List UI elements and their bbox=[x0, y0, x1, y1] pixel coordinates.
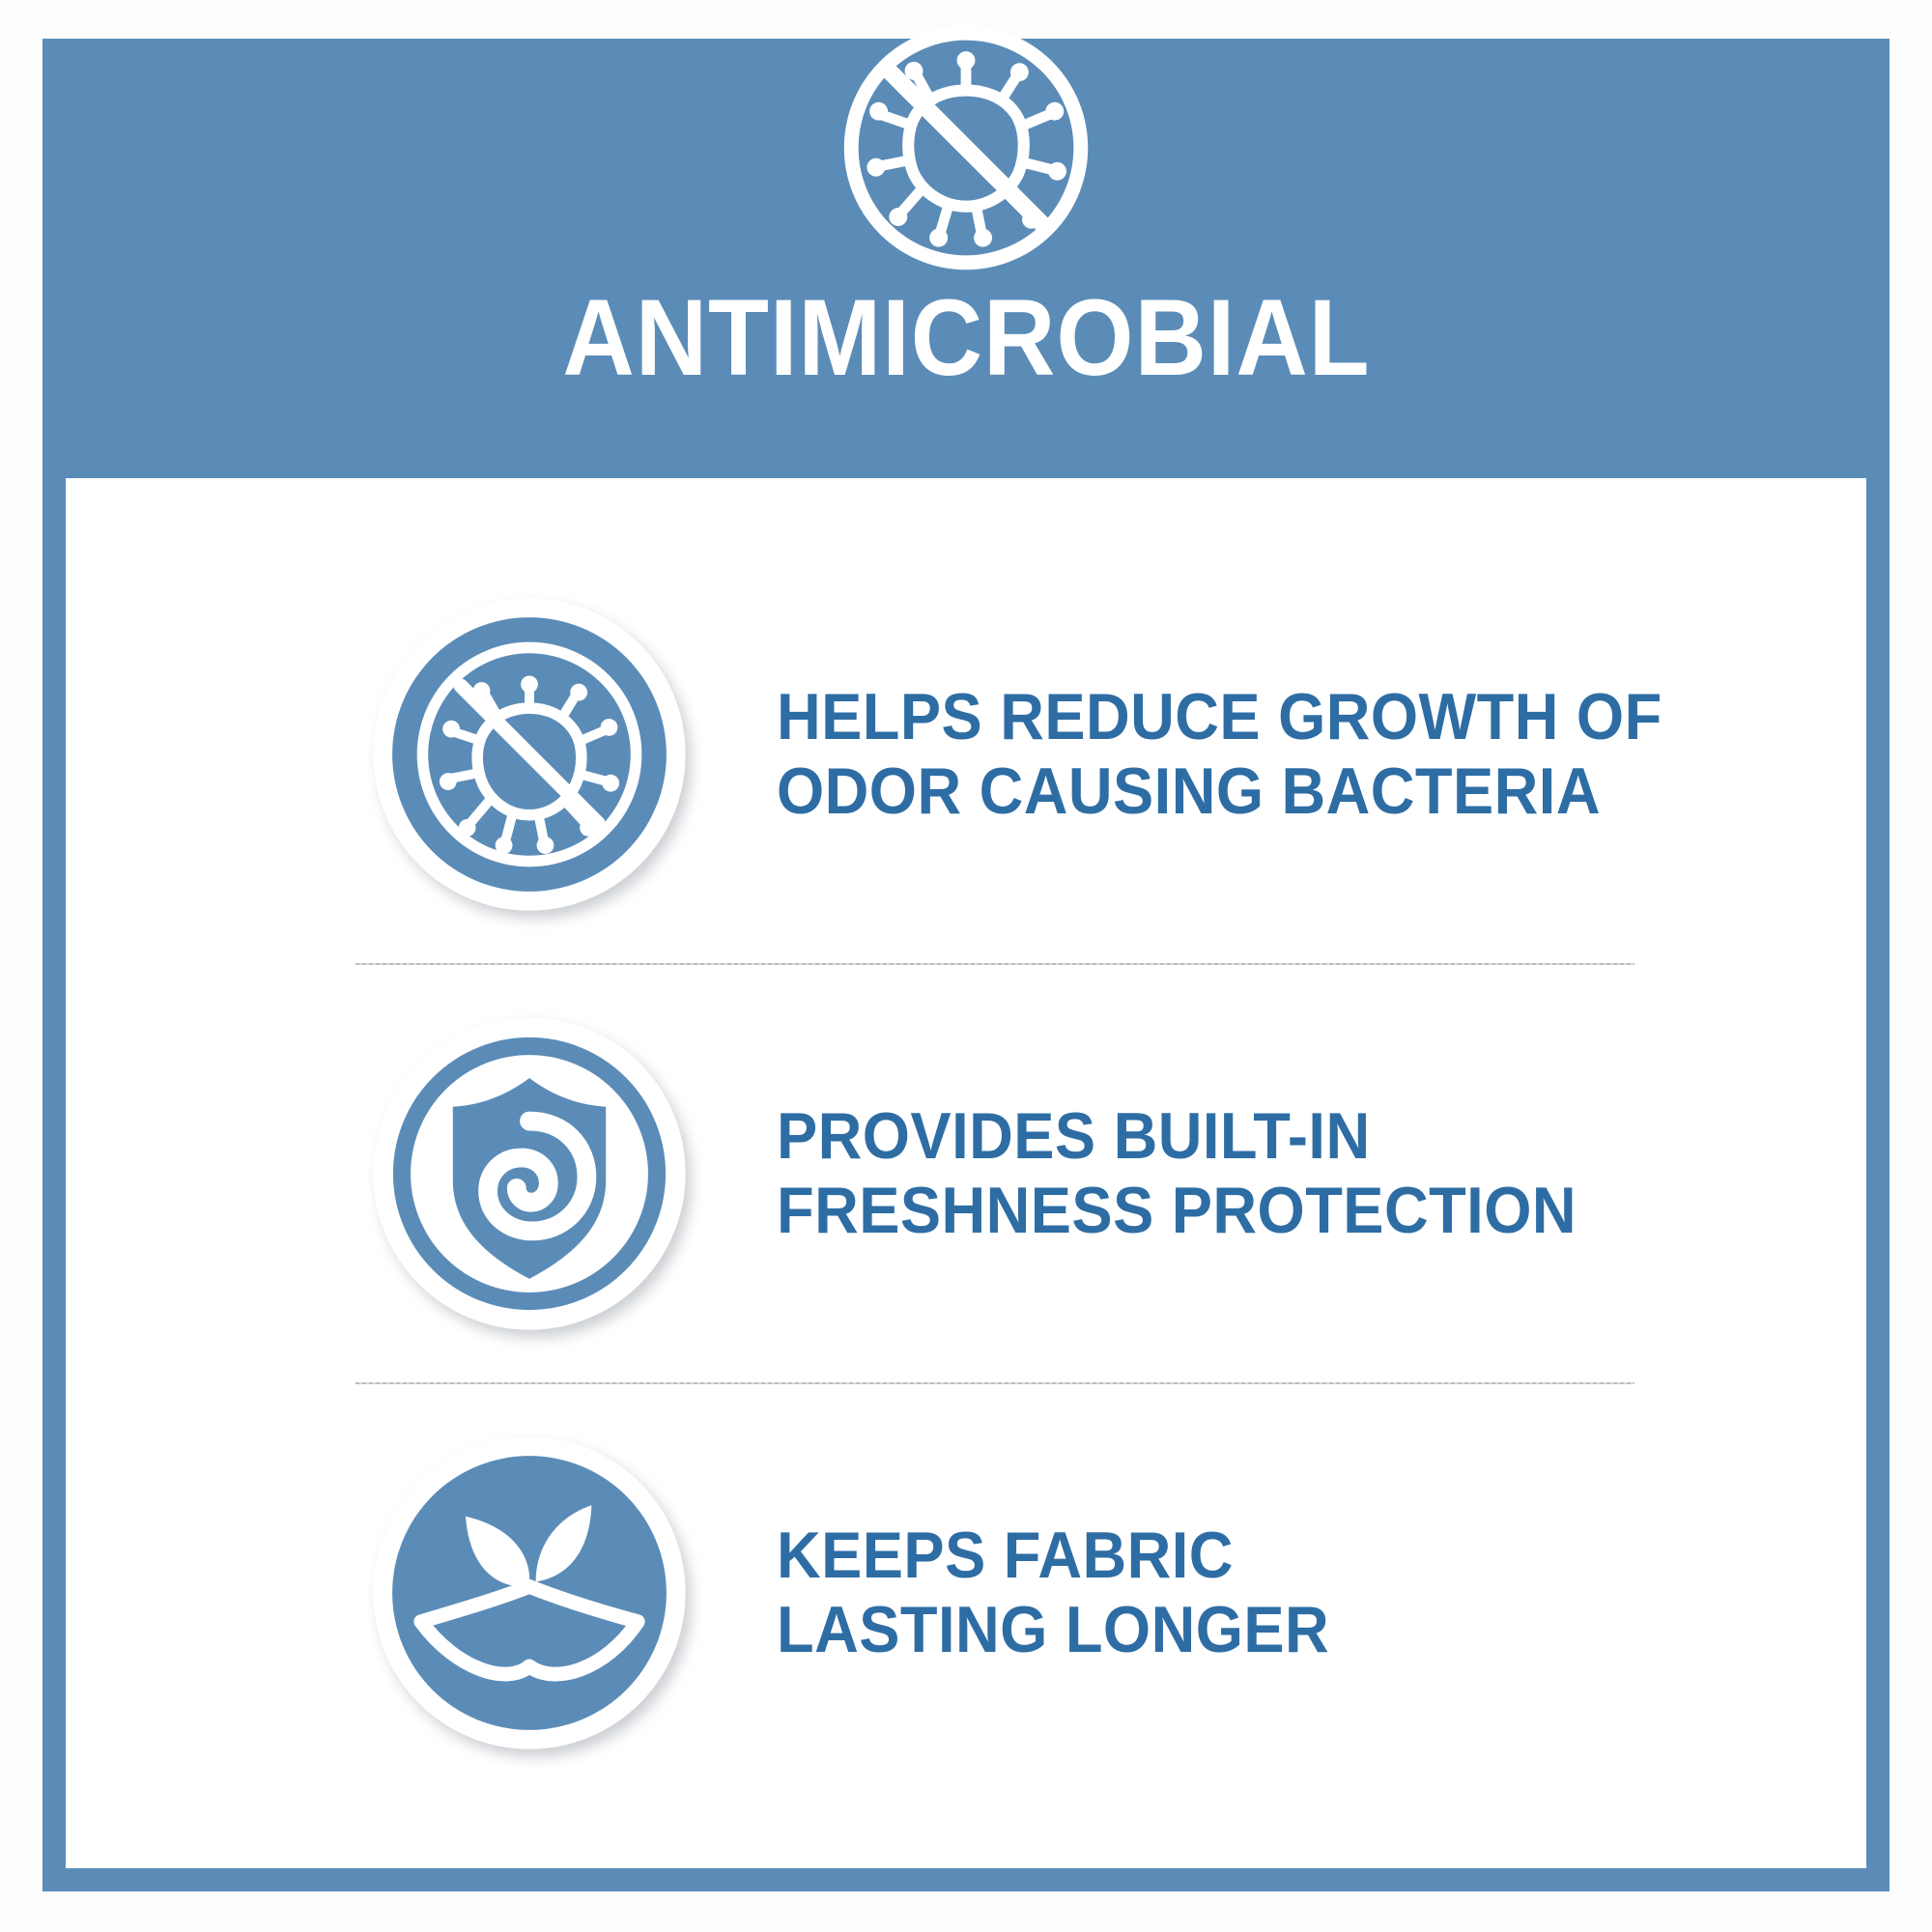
infographic-root: ANTIMICROBIAL bbox=[0, 0, 1932, 1932]
leaf-sprout-icon bbox=[370, 1434, 689, 1752]
feature-icon-wrap-3 bbox=[355, 1419, 703, 1767]
shield-swirl-icon bbox=[370, 1014, 689, 1333]
feature-row-1: HELPS REDUCE GROWTH OF ODOR CAUSING BACT… bbox=[66, 546, 1866, 963]
header-band: ANTIMICROBIAL bbox=[43, 39, 1889, 478]
feature-icon-wrap-1 bbox=[355, 581, 703, 928]
virus-blocked-icon bbox=[836, 17, 1096, 278]
feature-label-2: PROVIDES BUILT-IN FRESHNESS PROTECTION bbox=[777, 1099, 1577, 1246]
feature-row-3: KEEPS FABRIC LASTING LONGER bbox=[66, 1384, 1866, 1802]
feature-row-2: PROVIDES BUILT-IN FRESHNESS PROTECTION bbox=[66, 965, 1866, 1382]
feature-label-1: HELPS REDUCE GROWTH OF ODOR CAUSING BACT… bbox=[777, 680, 1662, 827]
feature-icon-wrap-2 bbox=[355, 1000, 703, 1348]
feature-label-3: KEEPS FABRIC LASTING LONGER bbox=[777, 1519, 1329, 1665]
virus-blocked-icon bbox=[370, 595, 689, 914]
feature-rows: HELPS REDUCE GROWTH OF ODOR CAUSING BACT… bbox=[66, 546, 1866, 1802]
page-title: ANTIMICROBIAL bbox=[562, 284, 1370, 392]
features-panel: HELPS REDUCE GROWTH OF ODOR CAUSING BACT… bbox=[66, 478, 1866, 1868]
